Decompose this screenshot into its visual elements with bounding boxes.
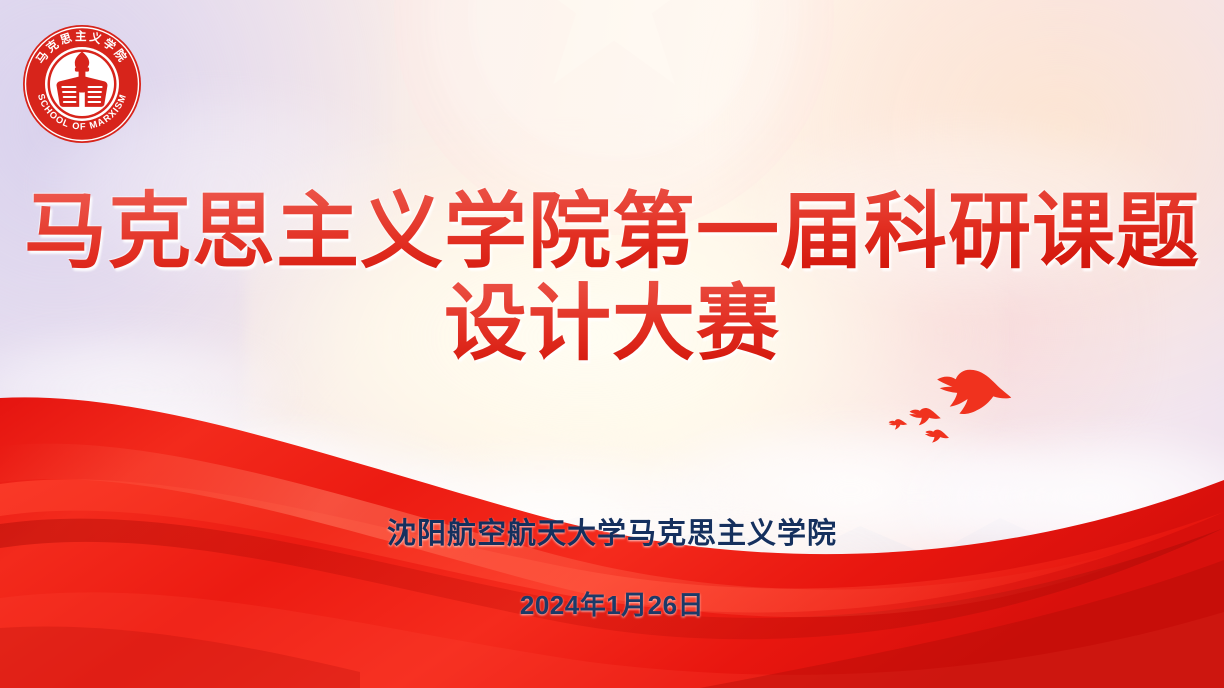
title-line-2: 设计大赛 xyxy=(0,278,1224,370)
organization-subtitle: 沈阳航空航天大学马克思主义学院 xyxy=(0,510,1224,552)
event-date: 2024年1月26日 xyxy=(0,585,1224,622)
school-of-marxism-emblem-icon: 马克思主义学院 SCHOOL OF MARXISM xyxy=(16,18,148,150)
poster-canvas: 马克思主义学院 SCHOOL OF MARXISM xyxy=(0,0,1224,688)
title-line-1: 马克思主义学院第一届科研课题 xyxy=(0,186,1224,278)
school-of-marxism-logo: 马克思主义学院 SCHOOL OF MARXISM xyxy=(16,18,148,150)
poster-title: 马克思主义学院第一届科研课题 设计大赛 xyxy=(0,186,1224,370)
